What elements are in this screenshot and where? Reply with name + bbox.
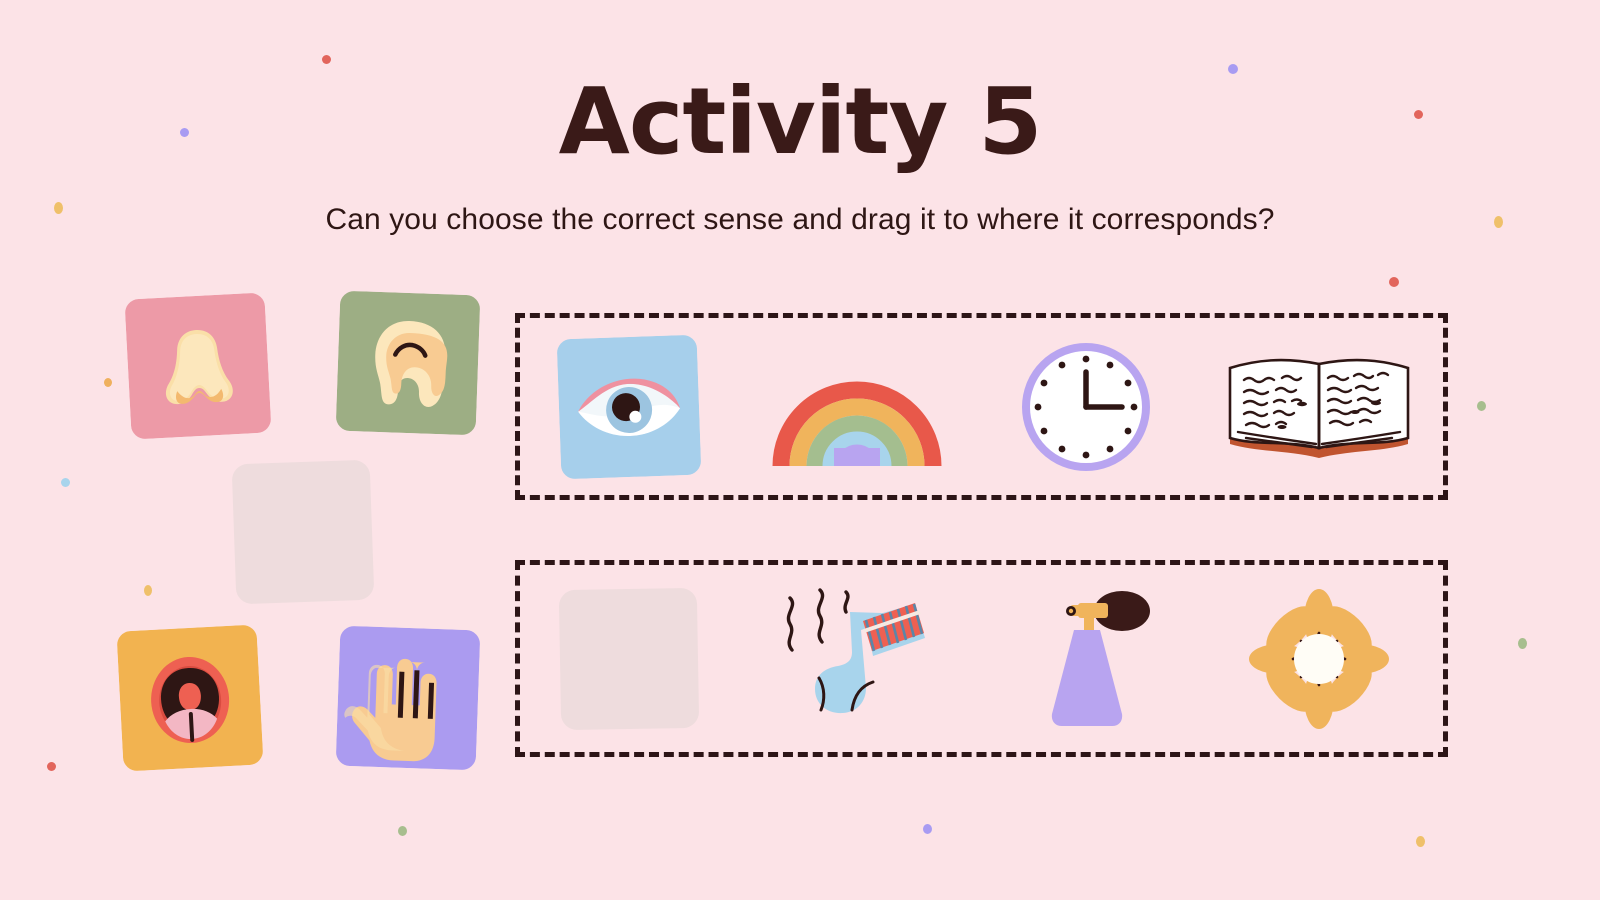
page-subtitle: Can you choose the correct sense and dra… [0,203,1600,237]
mouth-icon [116,624,263,771]
open-book-icon [1224,346,1414,468]
rainbow-illustration [738,318,976,495]
nose-icon [124,292,271,439]
confetti-dot [47,762,56,771]
nose-card[interactable] [124,292,271,439]
ear-icon [336,291,481,436]
confetti-dot [923,824,932,834]
open-book-illustration [1195,318,1443,495]
empty-drop-slot[interactable] [559,587,699,729]
eye-icon [557,334,702,479]
perfume-bottle-icon [1016,586,1156,731]
mouth-card[interactable] [116,624,263,771]
ear-card[interactable] [336,291,481,436]
confetti-dot [1477,401,1486,411]
hand-icon [336,626,481,771]
perfume-illustration [977,565,1195,752]
drop-zone-smell[interactable] [515,560,1448,757]
flower-illustration [1195,565,1443,752]
confetti-dot [1416,836,1425,847]
drop-zone-sight[interactable] [515,313,1448,500]
confetti-dot [1389,277,1399,287]
confetti-dot [61,478,70,487]
confetti-dot [398,826,407,836]
sight-slot[interactable] [520,318,738,495]
hand-card[interactable] [336,626,481,771]
clock-icon [1020,341,1152,473]
rainbow-icon [772,344,942,469]
confetti-dot [1518,638,1527,649]
confetti-dot [104,378,112,387]
activity-slide: Activity 5 Can you choose the correct se… [0,0,1600,900]
smell-slot[interactable] [520,565,738,752]
confetti-dot [322,55,331,64]
smelly-sock-illustration [738,565,976,752]
confetti-dot [144,585,152,596]
clock-illustration [977,318,1195,495]
empty-card-slot[interactable] [232,460,375,605]
sock-icon [772,584,942,734]
eye-card[interactable] [557,334,702,479]
confetti-dot [1228,64,1238,74]
flower-icon [1249,589,1389,729]
page-title: Activity 5 [0,74,1600,171]
